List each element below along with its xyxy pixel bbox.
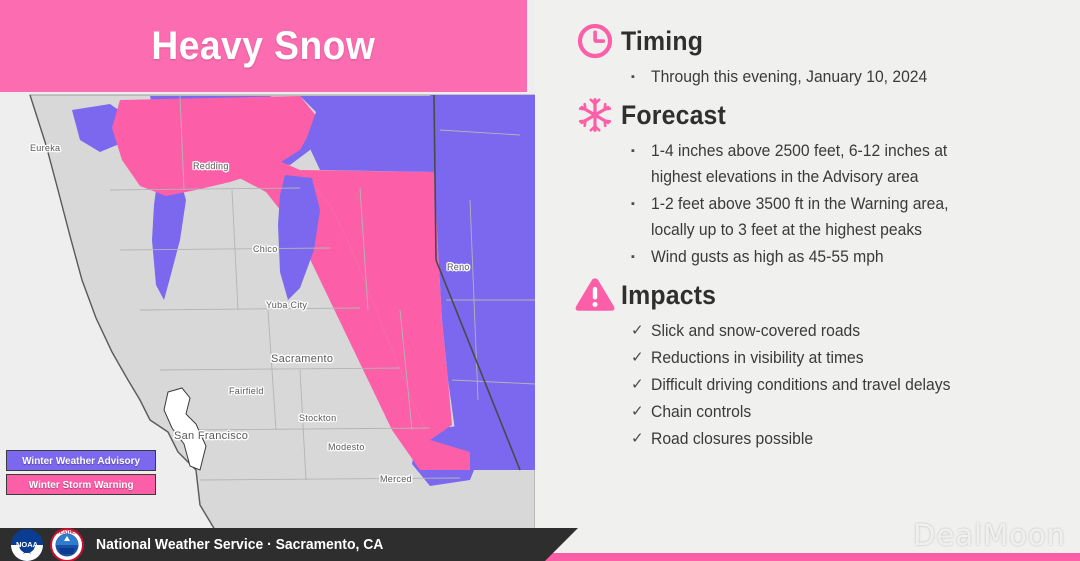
city-label: Reno (447, 262, 470, 272)
timing-bullet-list: ▪ Through this evening, January 10, 2024 (631, 64, 1066, 90)
list-item: ▪ Wind gusts as high as 45-55 mph (631, 244, 1066, 270)
city-label: Chico (253, 244, 278, 254)
bullet-check-icon: ✓ (631, 399, 651, 425)
bullet-check-icon: ✓ (631, 318, 651, 344)
nws-seal-logo: WEATHER (50, 528, 84, 561)
city-label: Modesto (328, 442, 365, 452)
city-label: Redding (193, 161, 229, 171)
city-label: Sacramento (271, 353, 333, 365)
dealmoon-watermark: DealMoon (913, 518, 1066, 552)
snowflake-icon (569, 96, 621, 134)
list-item: ✓ Chain controls (631, 399, 1066, 425)
page-title: Heavy Snow (152, 24, 376, 69)
impacts-item-text: Road closures possible (651, 426, 813, 452)
impacts-item-text: Reductions in visibility at times (651, 345, 864, 371)
weather-map: Heavy Snow EurekaReddingChicoRenoYuba Ci… (0, 0, 535, 530)
bullet-square-icon: ▪ (631, 244, 651, 270)
section-title-impacts: Impacts (621, 280, 716, 311)
bullet-check-icon: ✓ (631, 426, 651, 452)
city-label: Eureka (30, 143, 60, 153)
list-item: ▪ Through this evening, January 10, 2024 (631, 64, 1066, 90)
footer-bar: NOAA WEATHER National Weather Service · … (0, 528, 578, 561)
impacts-item-text: Chain controls (651, 399, 751, 425)
list-item: ✓ Road closures possible (631, 426, 1066, 452)
impacts-item-text: Difficult driving conditions and travel … (651, 372, 950, 398)
city-label: Stockton (299, 413, 336, 423)
forecast-item-text: 1-4 inches above 2500 feet, 6-12 inches … (651, 138, 984, 190)
section-title-timing: Timing (621, 26, 703, 57)
list-item: ✓ Slick and snow-covered roads (631, 318, 1066, 344)
legend-item-advisory: Winter Weather Advisory (6, 450, 156, 471)
section-header-impacts: Impacts (569, 272, 1066, 318)
section-title-forecast: Forecast (621, 100, 726, 131)
legend-label-warning: Winter Storm Warning (29, 479, 134, 491)
title-banner: Heavy Snow (0, 0, 527, 92)
city-label: Fairfield (229, 386, 264, 396)
section-header-timing: Timing (569, 18, 1066, 64)
section-forecast: Forecast ▪ 1-4 inches above 2500 feet, 6… (569, 92, 1066, 270)
list-item: ✓ Reductions in visibility at times (631, 345, 1066, 371)
section-header-forecast: Forecast (569, 92, 1066, 138)
impacts-bullet-list: ✓ Slick and snow-covered roads ✓ Reducti… (631, 318, 1066, 452)
forecast-bullet-list: ▪ 1-4 inches above 2500 feet, 6-12 inche… (631, 138, 1066, 270)
advisory-edge-overlay (300, 96, 434, 172)
bullet-square-icon: ▪ (631, 191, 651, 217)
impacts-item-text: Slick and snow-covered roads (651, 318, 860, 344)
bullet-check-icon: ✓ (631, 345, 651, 371)
forecast-item-text: 1-2 feet above 3500 ft in the Warning ar… (651, 191, 984, 243)
clock-icon (569, 21, 621, 61)
svg-text:WEATHER: WEATHER (56, 529, 80, 534)
list-item: ▪ 1-2 feet above 3500 ft in the Warning … (631, 191, 1066, 243)
section-timing: Timing ▪ Through this evening, January 1… (569, 18, 1066, 90)
map-legend: Winter Weather Advisory Winter Storm War… (6, 450, 156, 498)
svg-text:NOAA: NOAA (16, 540, 39, 549)
forecast-item-text: Wind gusts as high as 45-55 mph (651, 244, 884, 270)
list-item: ▪ 1-4 inches above 2500 feet, 6-12 inche… (631, 138, 1066, 190)
section-impacts: Impacts ✓ Slick and snow-covered roads ✓… (569, 272, 1066, 452)
city-label: Yuba City (266, 300, 307, 310)
warning-triangle-icon (569, 275, 621, 315)
bullet-square-icon: ▪ (631, 138, 651, 164)
list-item: ✓ Difficult driving conditions and trave… (631, 372, 1066, 398)
city-label: San Francisco (174, 430, 248, 442)
timing-item-text: Through this evening, January 10, 2024 (651, 64, 927, 90)
details-panel: Timing ▪ Through this evening, January 1… (535, 0, 1080, 545)
city-label: Merced (380, 474, 412, 484)
noaa-logo: NOAA (10, 528, 44, 561)
bullet-square-icon: ▪ (631, 64, 651, 90)
bullet-check-icon: ✓ (631, 372, 651, 398)
footer-office-label: National Weather Service · Sacramento, C… (96, 536, 383, 553)
legend-item-warning: Winter Storm Warning (6, 474, 156, 495)
legend-label-advisory: Winter Weather Advisory (22, 455, 140, 467)
